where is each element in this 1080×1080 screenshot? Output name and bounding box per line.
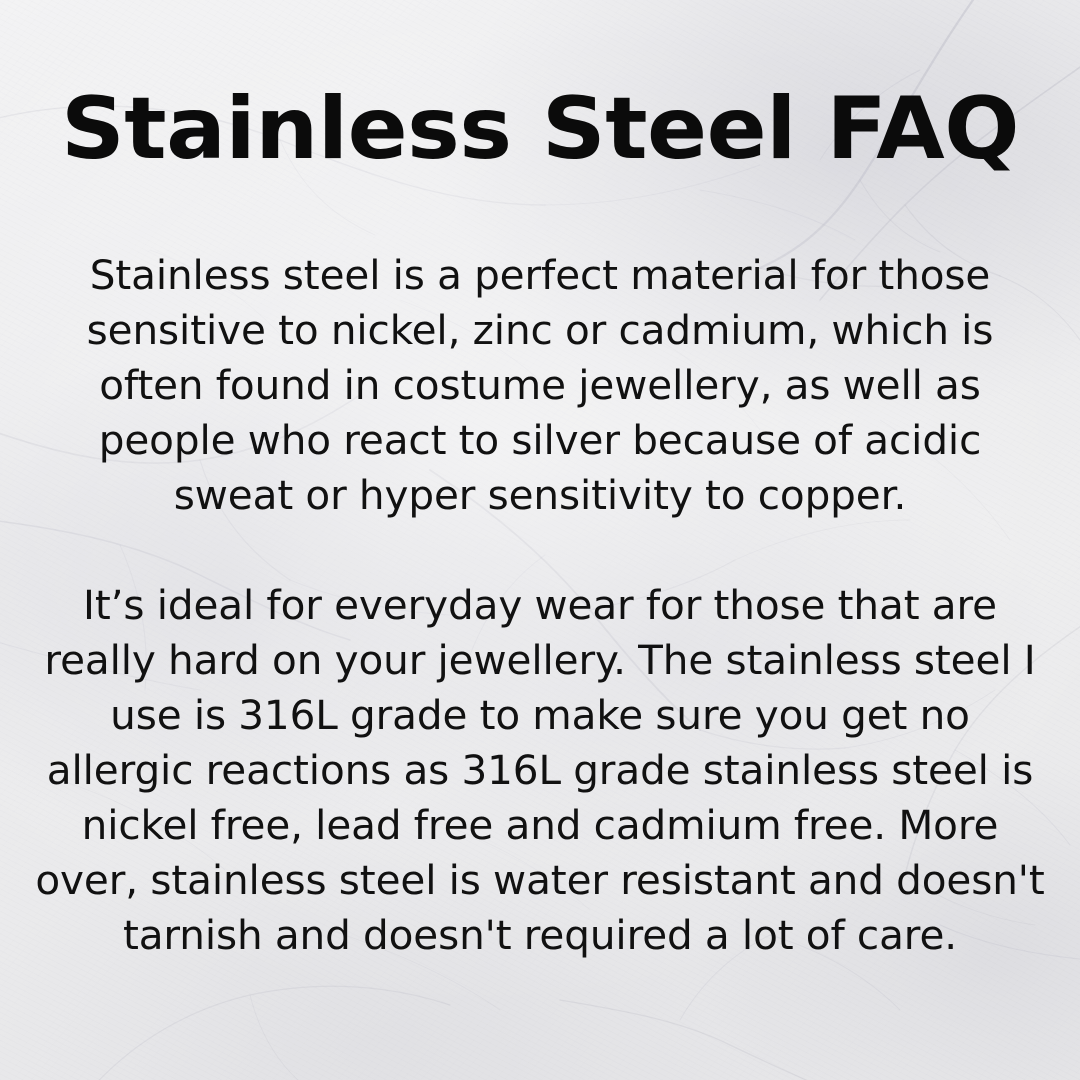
faq-card: Stainless Steel FAQ Stainless steel is a… xyxy=(0,0,1080,1080)
body-paragraph: It’s ideal for everyday wear for those t… xyxy=(34,578,1046,963)
body-copy: Stainless steel is a perfect material fo… xyxy=(34,248,1046,963)
page-title: Stainless Steel FAQ xyxy=(19,86,1061,172)
content-container: Stainless Steel FAQ Stainless steel is a… xyxy=(0,0,1080,1080)
body-paragraph: Stainless steel is a perfect material fo… xyxy=(50,248,1030,523)
